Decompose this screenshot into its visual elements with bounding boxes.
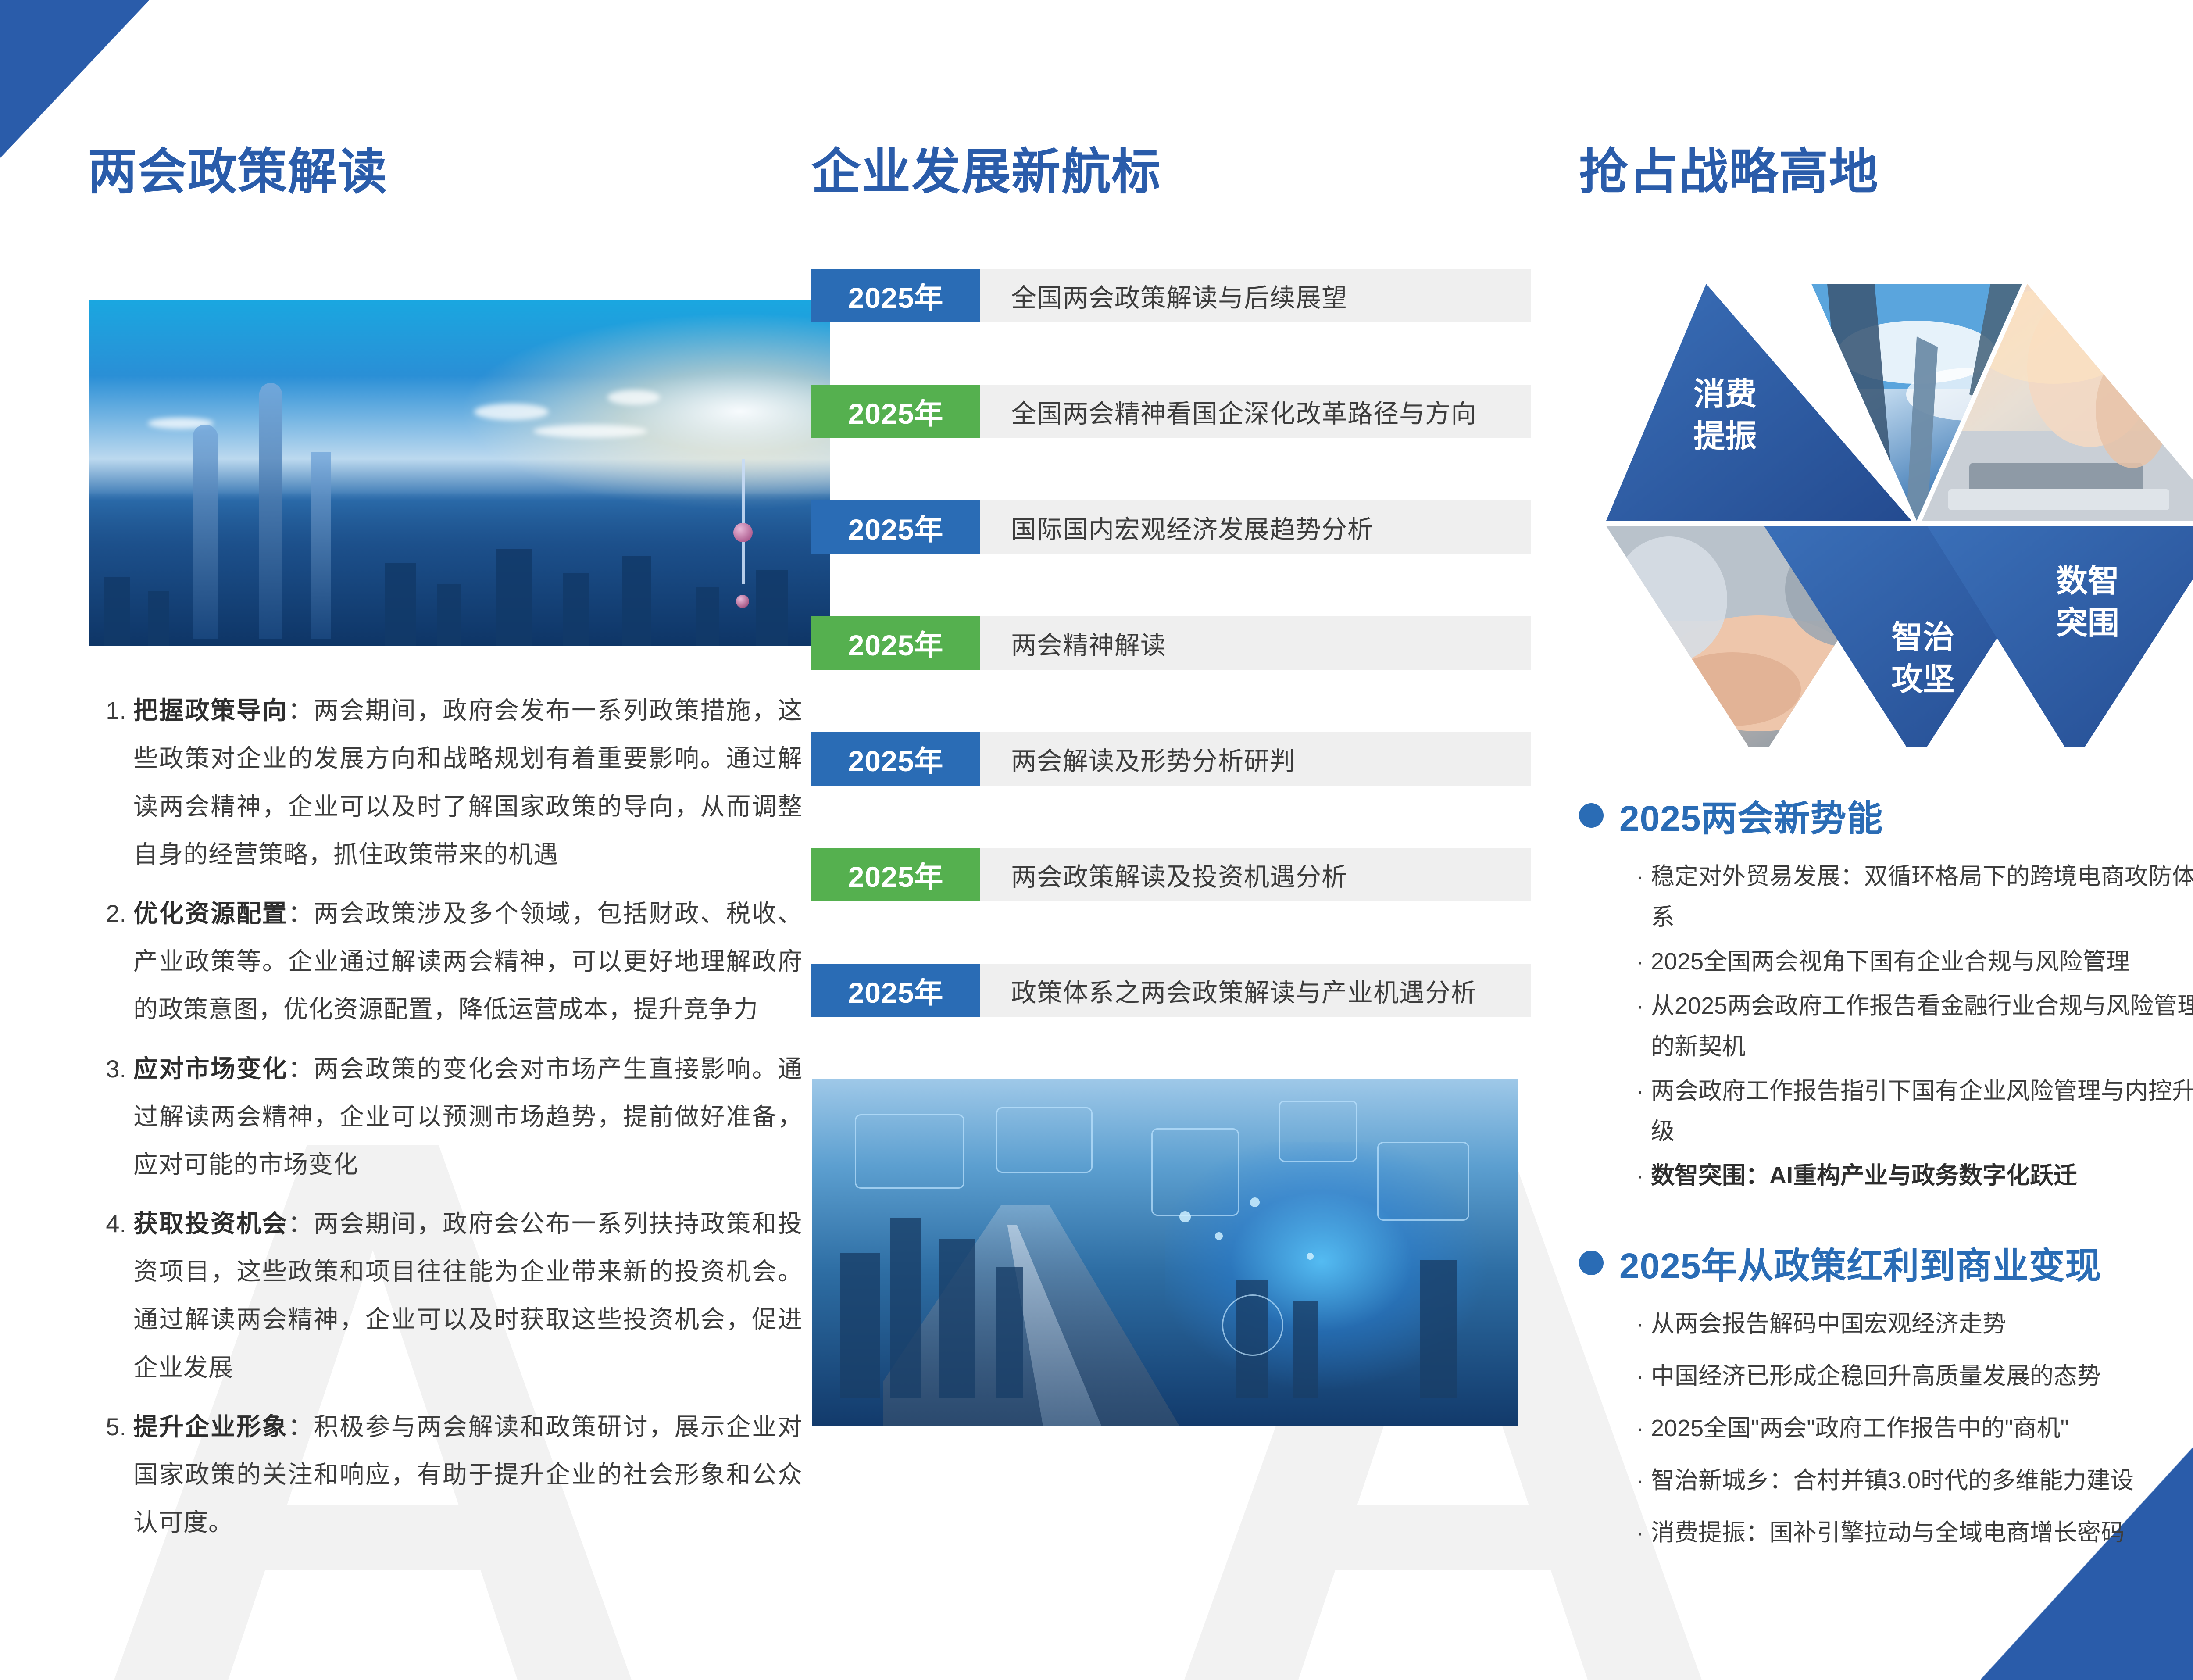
section-item-text: 2025全国"两会"政府工作报告中的"商机" — [1651, 1408, 2193, 1449]
dot-bullet-icon: · — [1636, 1512, 1651, 1553]
building-block — [1420, 1260, 1457, 1398]
building-block — [756, 570, 788, 646]
building-block — [622, 556, 651, 646]
list-item-heading: 把握政策导向 — [133, 697, 288, 724]
section-list-item: · 2025全国"两会"政府工作报告中的"商机" — [1636, 1408, 2193, 1449]
hud-panel — [1151, 1128, 1239, 1216]
year-badge: 2025年 — [811, 964, 980, 1017]
section-item-text: 从两会报告解码中国宏观经济走势 — [1651, 1304, 2193, 1344]
list-item-body: 把握政策导向：两会期间，政府会发布一系列政策措施，这些政策对企业的发展方向和战略… — [133, 686, 803, 878]
section-list-item: · 2025全国两会视角下国有企业合规与风险管理 — [1636, 941, 2193, 982]
list-item-body: 优化资源配置：两会政策涉及多个领域，包括财政、税收、产业政策等。企业通过解读两会… — [133, 890, 803, 1033]
building-block — [104, 577, 130, 646]
dot-bullet-icon: · — [1636, 1356, 1651, 1397]
hud-panel — [1279, 1101, 1357, 1162]
hex-label-digital-line1: 数智 — [2056, 564, 2119, 599]
list-item-body: 获取投资机会：两会期间，政府会公布一系列扶持政策和投资项目，这些政策和项目往往能… — [133, 1200, 803, 1391]
section-item-text: 两会政府工作报告指引下国有企业风险管理与内控升级 — [1651, 1071, 2193, 1152]
list-item-heading: 提升企业形象 — [133, 1413, 288, 1441]
section-policy-to-profit: 2025年从政策红利到商业变现 · 从两会报告解码中国宏观经济走势 · 中国经济… — [1579, 1237, 2193, 1553]
section-header: 2025两会新势能 — [1579, 789, 2193, 841]
page-title-left: 两会政策解读 — [88, 145, 754, 199]
list-item-heading: 优化资源配置 — [133, 900, 288, 927]
building-block — [437, 584, 461, 646]
hud-panel — [996, 1107, 1093, 1173]
page-title-middle: 企业发展新航标 — [811, 145, 1531, 199]
building-block — [563, 573, 589, 646]
section-new-momentum: 2025两会新势能 · 稳定对外贸易发展：双循环格局下的跨境电商攻防体系 · 2… — [1579, 789, 2193, 1196]
section-list-item: · 从两会报告解码中国宏观经济走势 — [1636, 1304, 2193, 1344]
dot-bullet-icon: · — [1636, 1460, 1651, 1501]
hex-label-consumption-line1: 消费 — [1693, 377, 1757, 412]
building-block — [840, 1253, 880, 1398]
topic-row[interactable]: 2025年 国际国内宏观经济发展趋势分析 — [811, 500, 1531, 554]
building-block — [148, 591, 169, 646]
list-item: 5. 提升企业形象：积极参与两会解读和政策研讨，展示企业对国家政策的关注和响应，… — [101, 1403, 803, 1547]
topic-row[interactable]: 2025年 全国两会政策解读与后续展望 — [811, 269, 1531, 322]
list-item: 1. 把握政策导向：两会期间，政府会发布一系列政策措施，这些政策对企业的发展方向… — [101, 686, 803, 878]
section-item-text: 2025全国两会视角下国有企业合规与风险管理 — [1651, 941, 2193, 982]
column-left: 两会政策解读 — [0, 0, 798, 1680]
hex-label-consumption-line2: 提振 — [1693, 419, 1757, 454]
section-title: 2025两会新势能 — [1619, 789, 1883, 841]
building-block — [1293, 1301, 1318, 1398]
section-item-text: 智治新城乡：合村并镇3.0时代的多维能力建设 — [1651, 1460, 2193, 1501]
section-item-list: · 稳定对外贸易发展：双循环格局下的跨境电商攻防体系 · 2025全国两会视角下… — [1636, 856, 2193, 1196]
dot-bullet-icon: · — [1636, 1155, 1651, 1196]
dot-bullet-icon: · — [1636, 986, 1651, 1067]
topic-row[interactable]: 2025年 两会精神解读 — [811, 616, 1531, 670]
section-header: 2025年从政策红利到商业变现 — [1579, 1237, 2193, 1289]
column-right: 抢占战略高地 — [1557, 0, 2193, 1680]
topic-row[interactable]: 2025年 政策体系之两会政策解读与产业机遇分析 — [811, 964, 1531, 1017]
node-dot — [1250, 1197, 1260, 1207]
column-middle: 企业发展新航标 2025年 全国两会政策解读与后续展望 2025年 全国两会精神… — [798, 0, 1557, 1680]
list-item: 3. 应对市场变化：两会政策的变化会对市场产生直接影响。通过解读两会精神，企业可… — [101, 1045, 803, 1189]
section-item-text: 从2025两会政府工作报告看金融行业合规与风险管理的新契机 — [1651, 986, 2193, 1067]
list-item: 2. 优化资源配置：两会政策涉及多个领域，包括财政、税收、产业政策等。企业通过解… — [101, 890, 803, 1033]
hex-label-governance-line2: 攻坚 — [1891, 662, 1954, 697]
hexagon-diagram: 消费 提振 数智 突围 智治 攻坚 — [1601, 273, 2193, 747]
bullet-dot-icon — [1579, 803, 1604, 828]
dot-bullet-icon: · — [1636, 1071, 1651, 1152]
list-item-number: 2. — [101, 890, 133, 1033]
list-item: 4. 获取投资机会：两会期间，政府会公布一系列扶持政策和投资项目，这些政策和项目… — [101, 1200, 803, 1391]
building-block — [996, 1267, 1023, 1398]
list-item-number: 1. — [101, 686, 133, 878]
bullet-dot-icon — [1579, 1251, 1604, 1275]
hex-label-governance-line1: 智治 — [1891, 620, 1954, 655]
photo-shanghai-skyline — [89, 300, 830, 646]
section-list-item: · 智治新城乡：合村并镇3.0时代的多维能力建设 — [1636, 1460, 2193, 1501]
cloud-shape — [533, 425, 647, 438]
topic-row[interactable]: 2025年 两会解读及形势分析研判 — [811, 732, 1531, 786]
building-block — [890, 1218, 921, 1398]
topic-row[interactable]: 2025年 两会政策解读及投资机遇分析 — [811, 848, 1531, 901]
year-badge: 2025年 — [811, 269, 980, 322]
photo-smart-city-highway — [812, 1079, 1518, 1426]
section-list-item: · 从2025两会政府工作报告看金融行业合规与风险管理的新契机 — [1636, 986, 2193, 1067]
topic-label: 政策体系之两会政策解读与产业机遇分析 — [980, 964, 1531, 1017]
hex-label-digital-line2: 突围 — [2056, 606, 2119, 641]
section-title: 2025年从政策红利到商业变现 — [1619, 1237, 2101, 1289]
dot-bullet-icon: · — [1636, 941, 1651, 982]
year-badge: 2025年 — [811, 616, 980, 670]
page-title-right: 抢占战略高地 — [1579, 145, 2193, 199]
infographic-page: 两会政策解读 — [0, 0, 2193, 1680]
section-item-list: · 从两会报告解码中国宏观经济走势 · 中国经济已形成企稳回升高质量发展的态势 … — [1636, 1304, 2193, 1553]
dot-bullet-icon: · — [1636, 856, 1651, 938]
year-badge: 2025年 — [811, 500, 980, 554]
section-list-item: · 消费提振：国补引擎拉动与全域电商增长密码 — [1636, 1512, 2193, 1553]
list-item-number: 3. — [101, 1045, 133, 1189]
list-item-heading: 获取投资机会 — [133, 1210, 288, 1237]
topic-rows-list: 2025年 全国两会政策解读与后续展望 2025年 全国两会精神看国企深化改革路… — [811, 269, 1531, 1017]
tower-shape — [193, 425, 218, 640]
topic-row[interactable]: 2025年 全国两会精神看国企深化改革路径与方向 — [811, 385, 1531, 438]
hud-ring — [1222, 1294, 1283, 1356]
tv-tower-mast — [742, 459, 745, 584]
section-list-item: · 中国经济已形成企稳回升高质量发展的态势 — [1636, 1356, 2193, 1397]
dot-bullet-icon: · — [1636, 1408, 1651, 1449]
topic-label: 全国两会政策解读与后续展望 — [980, 269, 1531, 322]
list-item-number: 5. — [101, 1403, 133, 1547]
list-item-body: 提升企业形象：积极参与两会解读和政策研讨，展示企业对国家政策的关注和响应，有助于… — [133, 1403, 803, 1547]
section-item-text: 中国经济已形成企稳回升高质量发展的态势 — [1651, 1356, 2193, 1397]
list-item-body: 应对市场变化：两会政策的变化会对市场产生直接影响。通过解读两会精神，企业可以预测… — [133, 1045, 803, 1189]
topic-label: 国际国内宏观经济发展趋势分析 — [980, 500, 1531, 554]
year-badge: 2025年 — [811, 732, 980, 786]
building-block — [385, 563, 416, 647]
section-list-item: · 两会政府工作报告指引下国有企业风险管理与内控升级 — [1636, 1071, 2193, 1152]
tower-shape — [259, 383, 282, 640]
topic-label: 两会政策解读及投资机遇分析 — [980, 848, 1531, 901]
cloud-shape — [474, 404, 549, 420]
year-badge: 2025年 — [811, 848, 980, 901]
list-item-heading: 应对市场变化 — [133, 1055, 288, 1083]
section-list-item: · 稳定对外贸易发展：双循环格局下的跨境电商攻防体系 — [1636, 856, 2193, 938]
section-list-item: · 数智突围：AI重构产业与政务数字化跃迁 — [1636, 1155, 2193, 1196]
year-badge: 2025年 — [811, 385, 980, 438]
hud-panel — [855, 1114, 964, 1189]
section-item-text: 消费提振：国补引擎拉动与全域电商增长密码 — [1651, 1512, 2193, 1553]
dot-bullet-icon: · — [1636, 1304, 1651, 1344]
tv-tower-sphere — [736, 595, 749, 608]
building-block — [696, 587, 719, 646]
list-item-number: 4. — [101, 1200, 133, 1391]
policy-benefits-list: 1. 把握政策导向：两会期间，政府会发布一系列政策措施，这些政策对企业的发展方向… — [101, 686, 803, 1546]
topic-label: 全国两会精神看国企深化改革路径与方向 — [980, 385, 1531, 438]
section-item-text: 数智突围：AI重构产业与政务数字化跃迁 — [1651, 1155, 2193, 1196]
node-dot — [1215, 1232, 1223, 1240]
tower-shape — [311, 452, 331, 640]
section-item-text: 稳定对外贸易发展：双循环格局下的跨境电商攻防体系 — [1651, 856, 2193, 938]
topic-label: 两会解读及形势分析研判 — [980, 732, 1531, 786]
building-block — [939, 1239, 975, 1398]
cloud-shape — [607, 390, 660, 405]
hud-panel — [1377, 1142, 1469, 1221]
topic-label: 两会精神解读 — [980, 616, 1531, 670]
building-block — [496, 549, 532, 646]
